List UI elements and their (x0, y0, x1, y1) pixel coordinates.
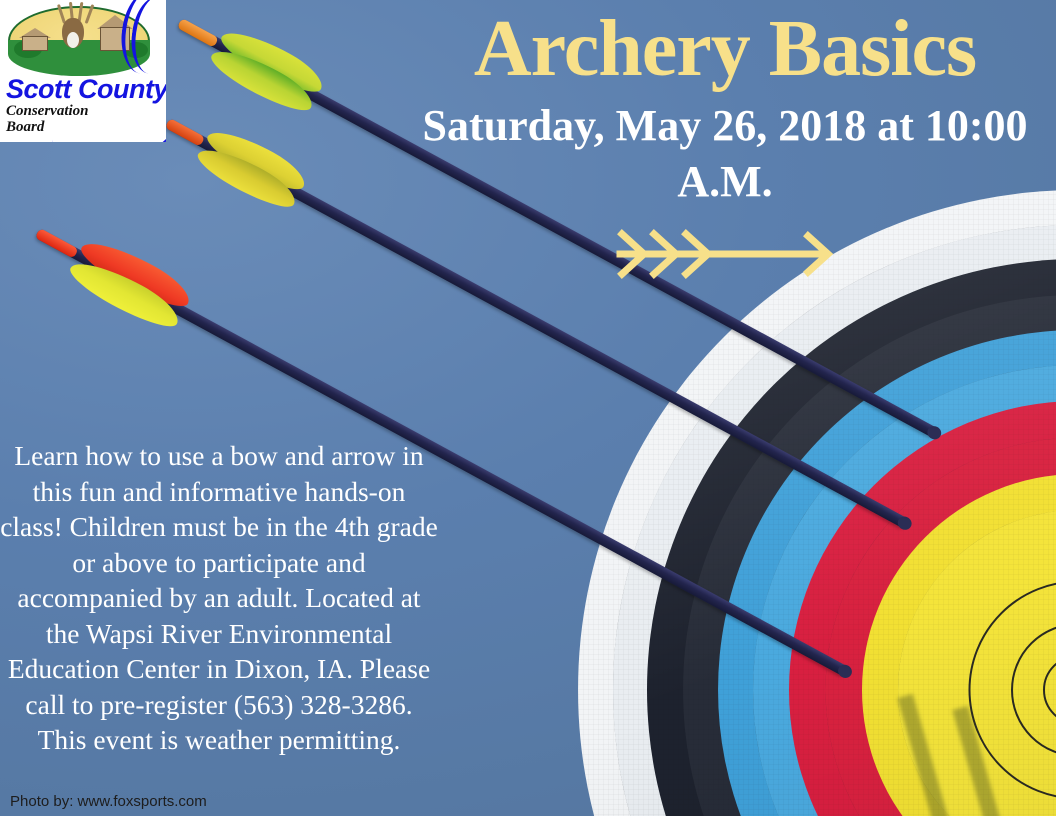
event-datetime: Saturday, May 26, 2018 at 10:00 A.M. (400, 98, 1050, 210)
headline-block: Archery Basics Saturday, May 26, 2018 at… (400, 6, 1050, 210)
logo-subtitle: Conservation Board (6, 103, 89, 135)
fletched-arrow-icon (612, 228, 842, 280)
page-title: Archery Basics (400, 6, 1050, 92)
logo-title: Scott County (6, 74, 166, 105)
logo-deer-face (67, 32, 79, 48)
logo-subtitle-line1: Conservation (6, 103, 89, 119)
event-description: Learn how to use a bow and arrow in this… (0, 438, 438, 758)
photo-credit: Photo by: www.foxsports.com (10, 793, 207, 810)
logo-shed-icon (22, 36, 48, 51)
organization-logo: Scott County Conservation Board (0, 0, 166, 142)
event-flyer: Scott County Conservation Board Archery … (0, 0, 1056, 816)
logo-subtitle-line2: Board (6, 119, 89, 135)
